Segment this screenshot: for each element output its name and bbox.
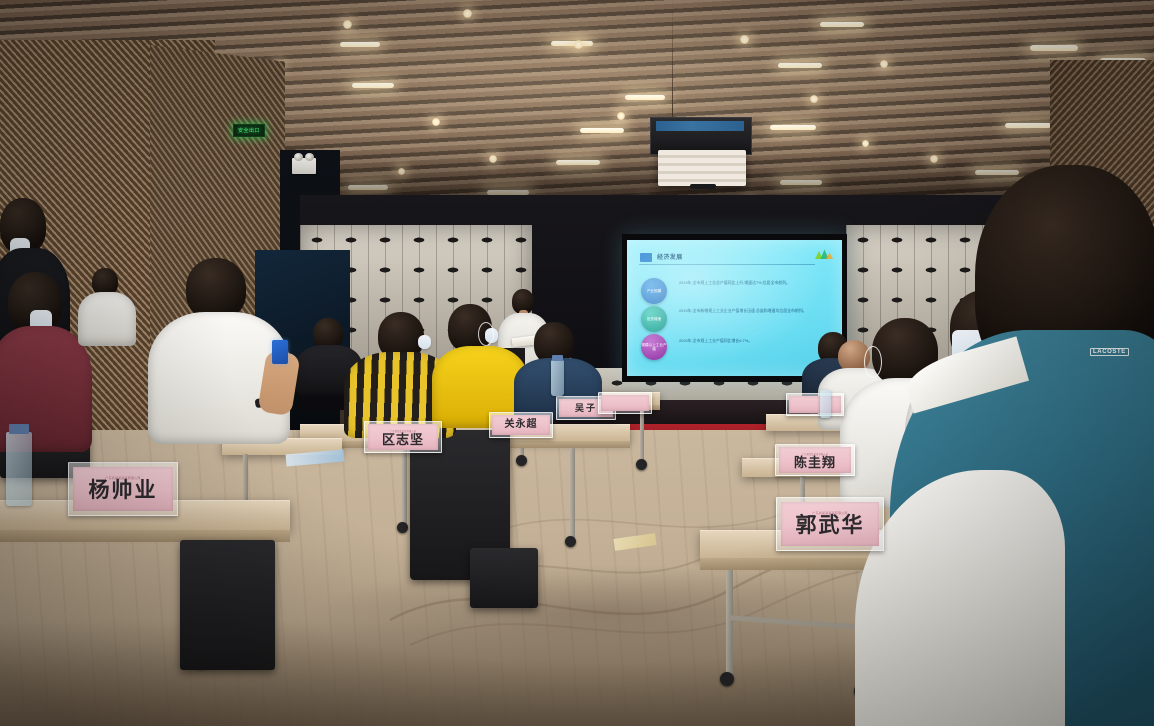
table-leg [640,410,644,462]
lacoste-brand-label: LACOSTE [1090,348,1129,356]
slide-badge-2: 投资增速 [641,306,667,332]
nameplate-name [623,399,627,407]
ceiling-linear-light [1030,45,1078,51]
ceiling-downlight [880,60,888,68]
smartphone[interactable] [272,340,288,364]
nameplate [598,392,652,414]
table-caster [516,455,527,466]
nameplate: 广东省某某某某有限公司 陈圭翔 [775,444,855,476]
nameplate [786,393,844,416]
emergency-lamp-head [305,153,314,161]
conference-chair [180,540,275,670]
bottle-cap [9,424,29,434]
ceiling-downlight [862,140,869,147]
ceiling-downlight [740,35,749,44]
nameplate-name: 吴子 [575,404,597,413]
ceiling-linear-light [820,22,864,27]
slide-paragraph-2: 2019年,全市新增规上工业企业产值增长迅速,总量和增速均位居全市前列。 [679,308,829,314]
attendee-body [78,292,136,346]
conference-chair [470,548,538,608]
nameplate-name [813,401,817,409]
table-leg [402,448,407,526]
projector-cable [672,0,673,118]
slide-title-underline [639,264,815,265]
water-bottle[interactable] [551,360,564,396]
ceiling-downlight [810,95,818,103]
ceiling-downlight [574,40,583,49]
nameplate-name: 杨帅业 [88,480,157,501]
ceiling-linear-light [340,42,380,47]
ceiling-downlight [343,20,352,29]
nameplate: 广东省某某某某有限公司 杨帅业 [68,462,178,516]
table-caster [636,459,647,470]
projector-body [658,150,746,186]
company-logo-icon [814,248,834,261]
ceiling-linear-light [352,83,394,88]
ceiling-downlight [617,112,625,120]
bottle-cap [552,355,563,361]
nameplate-name: 郭武华 [795,515,864,536]
ceiling-linear-light [580,128,624,133]
emergency-lamp-head [294,153,303,161]
slide-paragraph-3: 2020年,全市规上工业产值同比增长6.7%。 [679,338,829,344]
mask-strap [864,346,882,378]
table-leg [726,570,733,680]
nameplate-card [789,396,841,414]
projector-lens [690,184,716,189]
exit-sign-label: 安全出口 [238,127,260,134]
slide-title-icon [640,253,652,262]
attendee-head [186,258,246,320]
slide-title: 经济发展 [657,252,683,261]
face-mask [418,335,431,349]
slide-badge-1: 产业规模 [641,278,667,304]
nameplate-org: 广东省某某某某有限公司 [812,511,847,515]
mask-strap [478,322,494,346]
nameplate: 广东省某某某某有限公司 郭武华 [776,497,884,551]
projection-screen[interactable]: 经济发展 产业规模 投资增速 规模以上工业产值 2019年,全市规上工业总产值同… [627,240,842,376]
ceiling-linear-light [778,63,822,68]
nameplate: 广东省某某某某有限公司 区志坚 [364,421,442,453]
nameplate-card: 广东省某某某某有限公司 杨帅业 [73,467,172,511]
nameplate-card: 广东省某某某某有限公司 陈圭翔 [779,447,851,472]
slide-paragraph-1: 2019年,全市规上工业总产值同比上升,增速达7%,位居全市前列。 [679,280,829,286]
water-bottle[interactable] [6,432,32,506]
nameplate-card [601,395,649,412]
emergency-light [292,158,316,174]
table-caster [397,522,408,533]
nameplate-card: 广东省某某某某有限公司 区志坚 [368,424,438,449]
ceiling-linear-light [625,95,665,100]
ceiling-linear-light [770,125,816,130]
table-caster [720,672,734,686]
nameplate-name: 区志坚 [382,433,424,446]
ceiling-downlight [463,9,472,18]
nameplate-org: 广东省某某某某有限公司 [105,476,140,480]
table-leg [570,448,575,540]
nameplate-card: 广东省某某某某有限公司 郭武华 [781,502,879,546]
nameplate-name: 关永超 [505,420,538,430]
nameplate-org: 广东省某某某某有限公司 [390,429,416,433]
nameplate-org: 广东省某某某某有限公司 [802,452,828,456]
ceiling-linear-light [551,41,593,46]
table-caster [565,536,576,547]
slide-badge-3: 规模以上工业产值 [641,334,667,360]
projector-mount-detail [656,121,744,131]
exit-sign: 安全出口 [233,124,265,137]
water-bottle[interactable] [820,390,831,418]
nameplate-name: 陈圭翔 [794,456,836,469]
conference-room-photo: 安全出口 经济发展 产业规模 投资增速 规模以上工业产值 2019年,全市规上工… [0,0,1154,726]
ceiling-downlight [432,118,440,126]
nameplate: 关永超 [489,412,553,438]
ceiling-linear-light [1005,123,1051,128]
nameplate-card: 关永超 [492,415,549,435]
